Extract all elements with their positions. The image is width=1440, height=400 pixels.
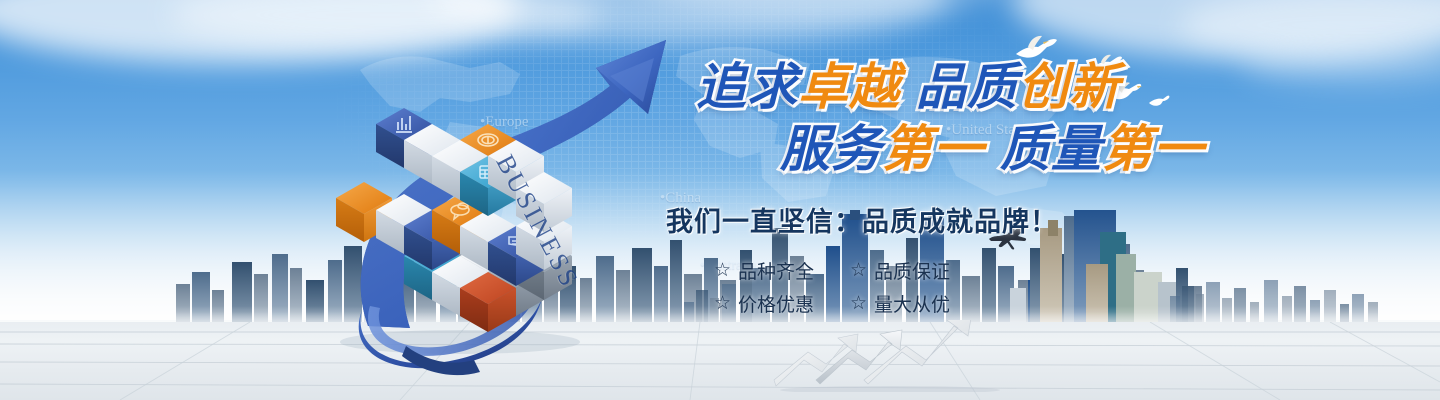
feature-item: ☆ 量大从优	[850, 290, 970, 317]
feature-label: 品质保证	[874, 257, 950, 284]
headline-line-1: 追求卓越品质创新	[696, 62, 1220, 112]
star-icon: ☆	[714, 294, 731, 313]
banner-subtitle: 我们一直坚信：品质成就品牌！	[666, 200, 1220, 239]
headline-seg-2: 卓越	[798, 62, 900, 112]
star-icon: ☆	[850, 261, 867, 280]
headline-seg-8: 第一	[1102, 124, 1204, 174]
promo-banner: •Europe •United States •China •Australia	[0, 0, 1440, 400]
star-icon: ☆	[850, 294, 867, 313]
feature-item: ☆ 品种齐全	[714, 257, 836, 284]
headline-seg-3: 品质	[916, 62, 1018, 112]
feature-label: 品种齐全	[738, 257, 814, 284]
banner-copy: 追求卓越品质创新 服务第一质量第一 我们一直坚信：品质成就品牌！ ☆ 品种齐全 …	[660, 62, 1220, 317]
feature-label: 价格优惠	[738, 290, 814, 317]
white-growth-arrows	[770, 320, 1010, 392]
feature-label: 量大从优	[874, 290, 950, 317]
headline-seg-6: 第一	[882, 124, 984, 174]
headline-seg-4: 创新	[1018, 62, 1120, 112]
feature-item: ☆ 价格优惠	[714, 290, 836, 317]
headline-seg-1: 追求	[696, 62, 798, 112]
headline-seg-7: 质量	[1000, 124, 1102, 174]
headline-line-2: 服务第一质量第一	[780, 124, 1220, 174]
cloud-shape	[1240, 44, 1440, 86]
headline-seg-5: 服务	[780, 124, 882, 174]
star-icon: ☆	[714, 261, 731, 280]
feature-item: ☆ 品质保证	[850, 257, 970, 284]
feature-list: ☆ 品种齐全 ☆ 品质保证 ☆ 价格优惠 ☆ 量大从优	[714, 257, 1220, 317]
